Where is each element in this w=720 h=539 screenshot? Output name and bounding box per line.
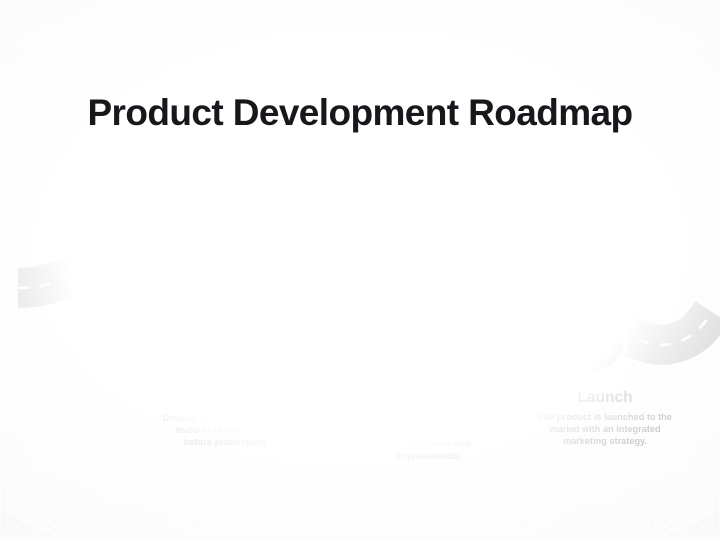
roadmap-infographic: Ideation Identify market needs and initi… xyxy=(0,0,720,539)
stage-title-ideation: Ideation xyxy=(40,186,210,204)
stage-circle-ideation[interactable] xyxy=(96,256,154,314)
stage-text-market-research: Market Research Analyze trends and custo… xyxy=(228,191,414,249)
stage-desc-ideation: Identify market needs and initial concep… xyxy=(40,208,210,244)
stage-circle-launch[interactable] xyxy=(565,312,623,370)
stage-desc-product-design: Develop the main design and features of … xyxy=(128,412,324,448)
lightbulb-icon xyxy=(110,270,140,300)
stage-desc-launch: The product is launched to the market wi… xyxy=(506,411,704,447)
stage-circle-market-research[interactable] xyxy=(287,256,345,314)
gears-refresh-icon xyxy=(488,272,519,303)
stage-title-market-research: Market Research xyxy=(228,191,414,209)
stage-text-testing-prototyping: Testing & Prototyping Test the initial p… xyxy=(334,386,524,462)
stage-text-product-design: Product Design Develop the main design a… xyxy=(128,390,324,448)
stage-desc-market-research: Analyze trends and customer needs to val… xyxy=(228,213,414,249)
rocket-icon xyxy=(579,326,609,356)
arrow-ideation-to-design xyxy=(222,257,268,284)
arrow-research-to-testing xyxy=(420,249,464,278)
stage-desc-improvement-refinement: Iterate based on feedback from product t… xyxy=(424,220,620,244)
stage-title-product-design: Product Design xyxy=(128,390,324,408)
stage-text-launch: Launch The product is launched to the ma… xyxy=(506,389,704,447)
stage-circle-product-design[interactable] xyxy=(191,311,249,369)
cart-analytics-icon xyxy=(205,325,236,356)
stage-circle-improvement-refinement[interactable] xyxy=(474,258,532,316)
stage-title-launch: Launch xyxy=(506,389,704,407)
arrow-design-to-research xyxy=(314,320,360,352)
stage-circle-testing-prototyping[interactable] xyxy=(381,313,439,371)
stage-text-ideation: Ideation Identify market needs and initi… xyxy=(40,186,210,244)
stage-title-testing-prototyping: Testing & Prototyping xyxy=(334,386,524,421)
package-idea-icon xyxy=(301,270,331,300)
checklist-pen-icon xyxy=(395,327,425,357)
arrow-testing-to-improvement xyxy=(504,325,550,356)
stage-desc-testing-prototyping: Test the initial product to identify iss… xyxy=(334,425,524,461)
stage-text-improvement-refinement: Improvement & Refinement Iterate based o… xyxy=(424,181,620,245)
page-title: Product Development Roadmap xyxy=(0,92,720,134)
stage-title-improvement-refinement: Improvement & Refinement xyxy=(424,181,620,216)
